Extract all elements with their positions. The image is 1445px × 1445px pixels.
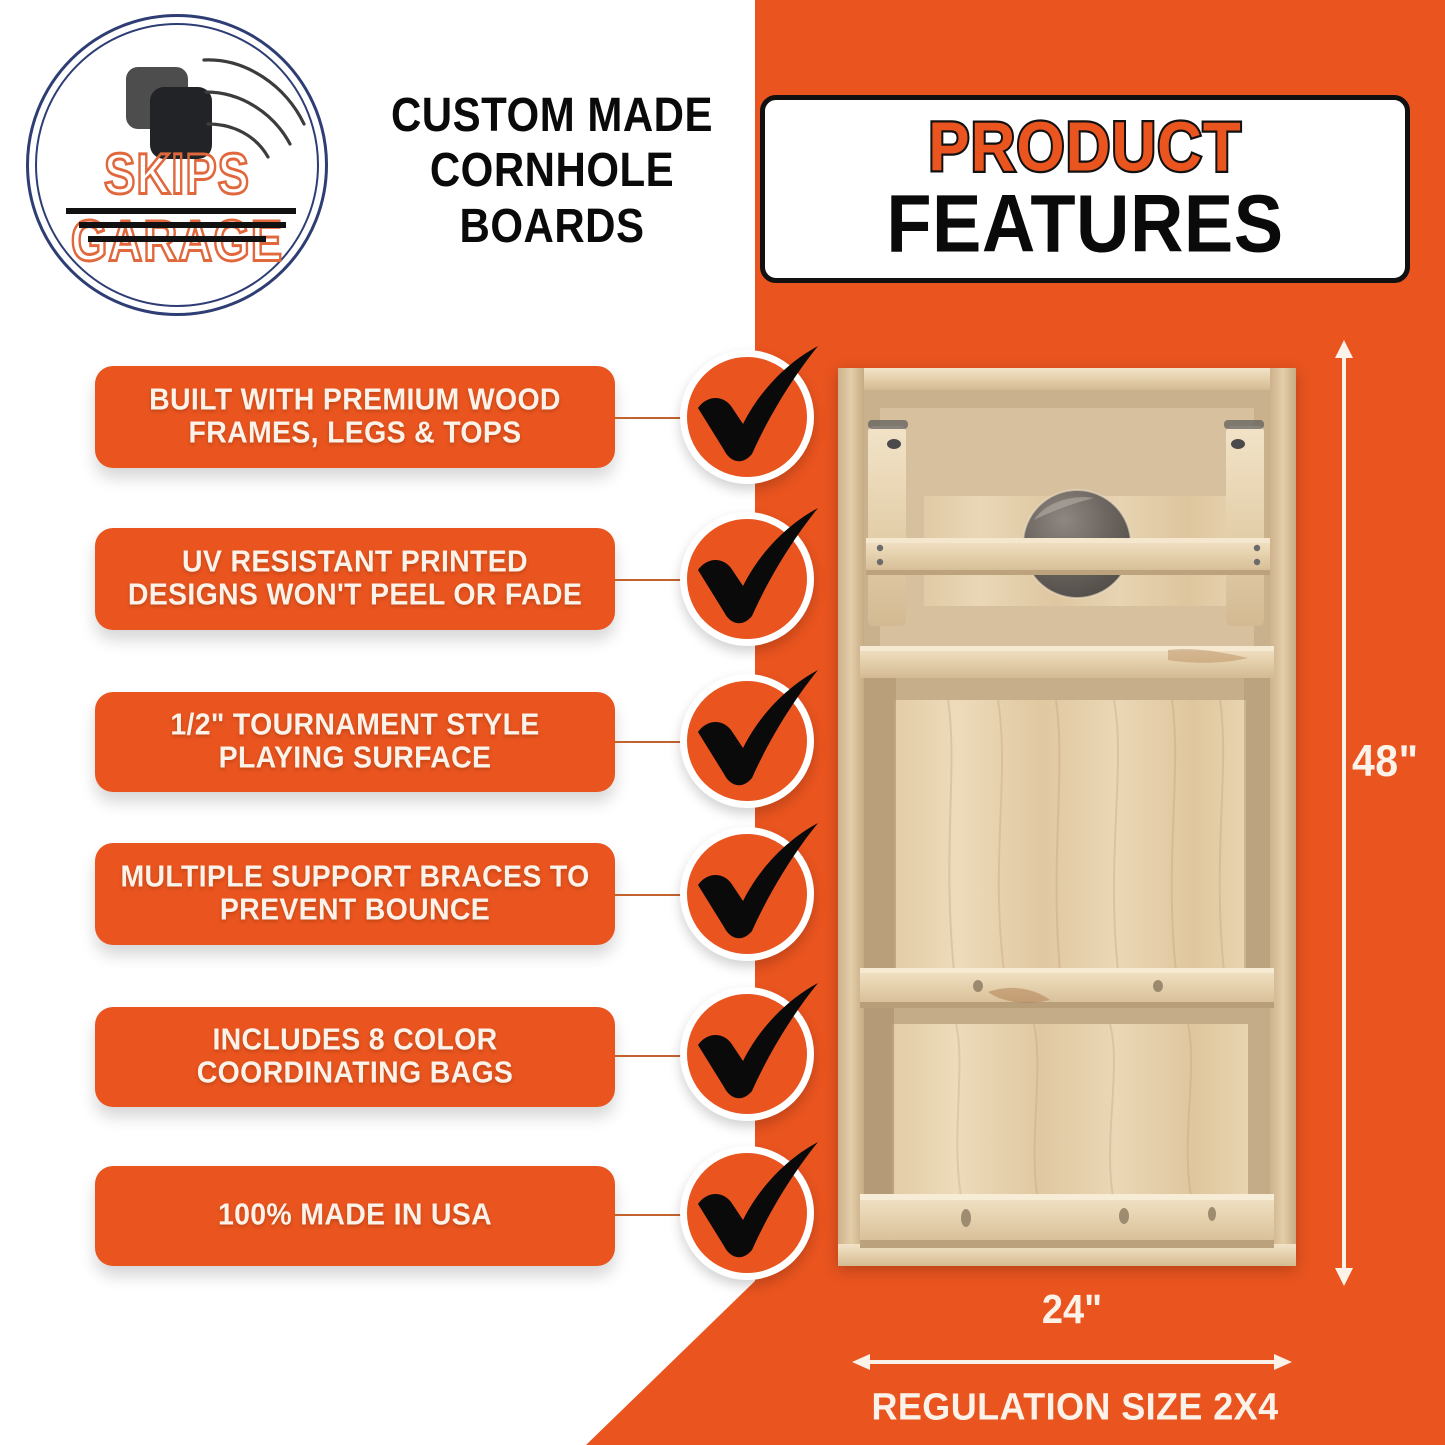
feature-connector xyxy=(615,741,683,743)
cornhole-board-photo xyxy=(838,368,1296,1266)
feature-pill-uv-resistant[interactable]: UV RESISTANT PRINTED DESIGNS WON'T PEEL … xyxy=(95,528,615,630)
feature-pill-support-braces[interactable]: MULTIPLE SUPPORT BRACES TO PREVENT BOUNC… xyxy=(95,843,615,945)
banner-line-product: PRODUCT xyxy=(928,114,1242,181)
logo-bar-2 xyxy=(79,222,286,228)
feature-check-made-in-usa xyxy=(680,1146,814,1280)
check-icon xyxy=(682,811,832,961)
width-dimension-label: 24" xyxy=(852,1287,1292,1333)
width-dimension-arrow xyxy=(852,1352,1292,1372)
feature-pill-premium-wood[interactable]: BUILT WITH PREMIUM WOOD FRAMES, LEGS & T… xyxy=(95,366,615,468)
feature-pill-made-in-usa[interactable]: 100% MADE IN USA xyxy=(95,1166,615,1266)
feature-pill-tournament-surface[interactable]: 1/2" TOURNAMENT STYLE PLAYING SURFACE xyxy=(95,692,615,792)
feature-label: BUILT WITH PREMIUM WOOD FRAMES, LEGS & T… xyxy=(113,384,597,450)
feature-label: 1/2" TOURNAMENT STYLE PLAYING SURFACE xyxy=(113,709,597,775)
logo-bar-1 xyxy=(66,208,296,214)
feature-check-premium-wood xyxy=(680,350,814,484)
feature-label: 100% MADE IN USA xyxy=(218,1199,492,1232)
feature-pill-color-bags[interactable]: INCLUDES 8 COLOR COORDINATING BAGS xyxy=(95,1007,615,1107)
feature-label: INCLUDES 8 COLOR COORDINATING BAGS xyxy=(113,1024,597,1090)
infographic-canvas: SKIPS GARAGE CUSTOM MADE CORNHOLE BOARDS… xyxy=(0,0,1445,1445)
feature-connector xyxy=(615,894,683,896)
check-icon xyxy=(682,496,832,646)
check-icon xyxy=(682,1130,832,1280)
feature-connector xyxy=(615,579,683,581)
feature-check-color-bags xyxy=(680,987,814,1121)
feature-check-tournament-surface xyxy=(680,674,814,808)
feature-connector xyxy=(615,1214,683,1216)
height-dimension-arrow xyxy=(1332,340,1356,1286)
feature-label: MULTIPLE SUPPORT BRACES TO PREVENT BOUNC… xyxy=(113,861,597,927)
feature-row: BUILT WITH PREMIUM WOOD FRAMES, LEGS & T… xyxy=(0,366,840,516)
product-features-banner: PRODUCT FEATURES xyxy=(760,95,1410,283)
feature-check-uv-resistant xyxy=(680,512,814,646)
regulation-size-label: REGULATION SIZE 2X4 xyxy=(830,1385,1320,1430)
feature-label: UV RESISTANT PRINTED DESIGNS WON'T PEEL … xyxy=(113,546,597,612)
banner-line-features: FEATURES xyxy=(886,184,1283,264)
check-icon xyxy=(682,658,832,808)
feature-check-support-braces xyxy=(680,827,814,961)
page-title: CUSTOM MADE CORNHOLE BOARDS xyxy=(352,88,752,253)
feature-row: 100% MADE IN USA xyxy=(0,1166,840,1316)
feature-row: UV RESISTANT PRINTED DESIGNS WON'T PEEL … xyxy=(0,528,840,678)
logo-bar-3 xyxy=(88,236,266,242)
feature-connector xyxy=(615,1055,683,1057)
feature-connector xyxy=(615,417,683,419)
check-icon xyxy=(682,971,832,1121)
check-icon xyxy=(682,334,832,484)
logo-brand-text: SKIPS GARAGE xyxy=(12,140,342,274)
height-dimension-label: 48" xyxy=(1352,736,1419,787)
brand-logo[interactable]: SKIPS GARAGE xyxy=(22,12,332,317)
